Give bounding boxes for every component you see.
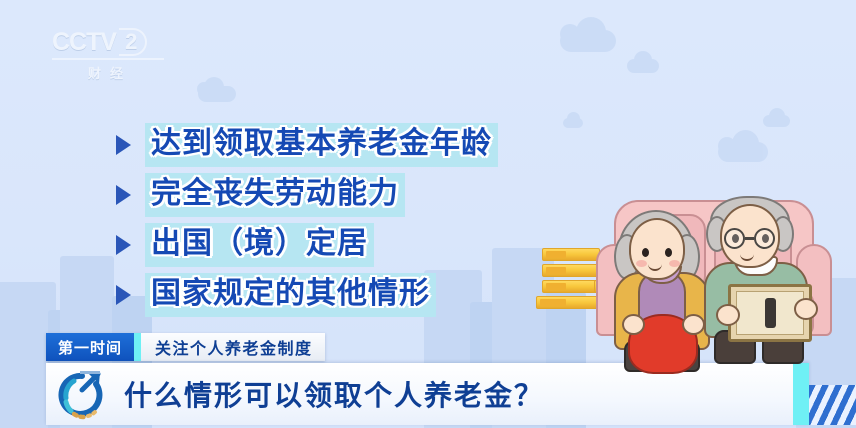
logo-rule — [52, 58, 164, 60]
cloud-icon — [627, 59, 659, 73]
cloud-icon — [560, 30, 616, 52]
channel-name: 财经 — [52, 63, 168, 82]
list-item-label: 完全丧失劳动能力 — [151, 176, 399, 211]
broadcast-frame: CCTV 2 财经 达到领取基本养老金年龄 完全丧失劳动能力 出国（境）定居 国… — [0, 0, 856, 428]
headline-bar: 什么情形可以领取个人养老金？ — [46, 363, 809, 425]
eye — [665, 248, 672, 257]
triangle-right-icon — [116, 285, 131, 305]
hand — [716, 304, 740, 326]
grandfather-figure — [706, 196, 824, 356]
list-item-label: 出国（境）定居 — [151, 226, 368, 261]
list-item: 国家规定的其他情形 — [116, 272, 498, 318]
cctv2-finance-logo: CCTV 2 财经 — [52, 28, 168, 86]
list-item: 出国（境）定居 — [116, 222, 498, 268]
cloud-icon — [563, 118, 583, 128]
list-item: 达到领取基本养老金年龄 — [116, 122, 498, 168]
bullet-list: 达到领取基本养老金年龄 完全丧失劳动能力 出国（境）定居 国家规定的其他情形 — [116, 122, 498, 322]
hand — [682, 314, 705, 335]
list-item-label: 达到领取基本养老金年龄 — [151, 126, 492, 161]
cloud-icon — [198, 86, 236, 102]
program-label: 第一时间 — [46, 333, 134, 361]
list-item-label: 国家规定的其他情形 — [151, 276, 430, 311]
headline-text: 什么情形可以领取个人养老金？ — [124, 374, 544, 414]
channel-text: CCTV — [52, 30, 116, 55]
eye — [642, 248, 649, 257]
list-item: 完全丧失劳动能力 — [116, 172, 498, 218]
glasses-icon — [724, 228, 778, 252]
headline-accent-bar — [793, 363, 809, 425]
triangle-right-icon — [116, 135, 131, 155]
triangle-right-icon — [116, 185, 131, 205]
hand — [622, 314, 645, 335]
banner-divider — [134, 333, 141, 361]
topic-label: 关注个人养老金制度 — [141, 333, 325, 361]
cloud-icon — [763, 115, 790, 127]
stripe-decoration — [809, 385, 856, 425]
sub-banner: 第一时间 关注个人养老金制度 — [46, 333, 325, 361]
swirl-arrow-logo — [52, 368, 110, 420]
cheek — [669, 260, 680, 267]
channel-number: 2 — [119, 28, 147, 56]
hand — [794, 298, 818, 320]
triangle-right-icon — [116, 235, 131, 255]
cheek — [636, 260, 647, 267]
